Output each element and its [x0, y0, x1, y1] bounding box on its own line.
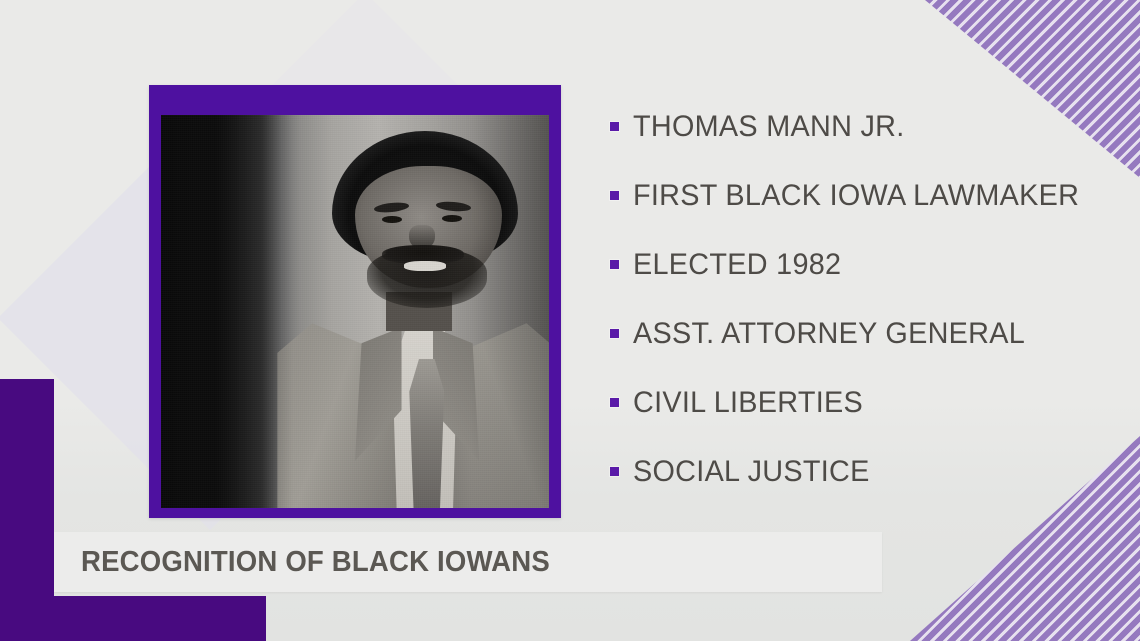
list-item-label: THOMAS MANN JR. — [633, 110, 905, 144]
page-title: RECOGNITION OF BLACK IOWANS — [81, 546, 550, 579]
square-bullet-icon — [610, 398, 619, 407]
square-bullet-icon — [610, 191, 619, 200]
list-item-label: ELECTED 1982 — [633, 248, 841, 282]
list-item-label: SOCIAL JUSTICE — [633, 455, 870, 489]
list-item-label: ASST. ATTORNEY GENERAL — [633, 317, 1025, 351]
portrait-film-grain — [161, 115, 549, 508]
lower-third-banner: RECOGNITION OF BLACK IOWANS — [54, 532, 882, 592]
list-item-label: FIRST BLACK IOWA LAWMAKER — [633, 179, 1079, 213]
list-item: FIRST BLACK IOWA LAWMAKER — [610, 161, 1080, 230]
list-item: CIVIL LIBERTIES — [610, 368, 1080, 437]
list-item: THOMAS MANN JR. — [610, 92, 1080, 161]
bullet-list: THOMAS MANN JR. FIRST BLACK IOWA LAWMAKE… — [610, 92, 1080, 506]
portrait-frame — [149, 85, 561, 518]
square-bullet-icon — [610, 122, 619, 131]
list-item: SOCIAL JUSTICE — [610, 437, 1080, 506]
list-item-label: CIVIL LIBERTIES — [633, 386, 863, 420]
square-bullet-icon — [610, 329, 619, 338]
square-bullet-icon — [610, 260, 619, 269]
list-item: ELECTED 1982 — [610, 230, 1080, 299]
portrait-photo — [161, 115, 549, 508]
square-bullet-icon — [610, 467, 619, 476]
purple-bottom-accent-strip — [0, 596, 266, 641]
slide-canvas: THOMAS MANN JR. FIRST BLACK IOWA LAWMAKE… — [0, 0, 1140, 641]
list-item: ASST. ATTORNEY GENERAL — [610, 299, 1080, 368]
